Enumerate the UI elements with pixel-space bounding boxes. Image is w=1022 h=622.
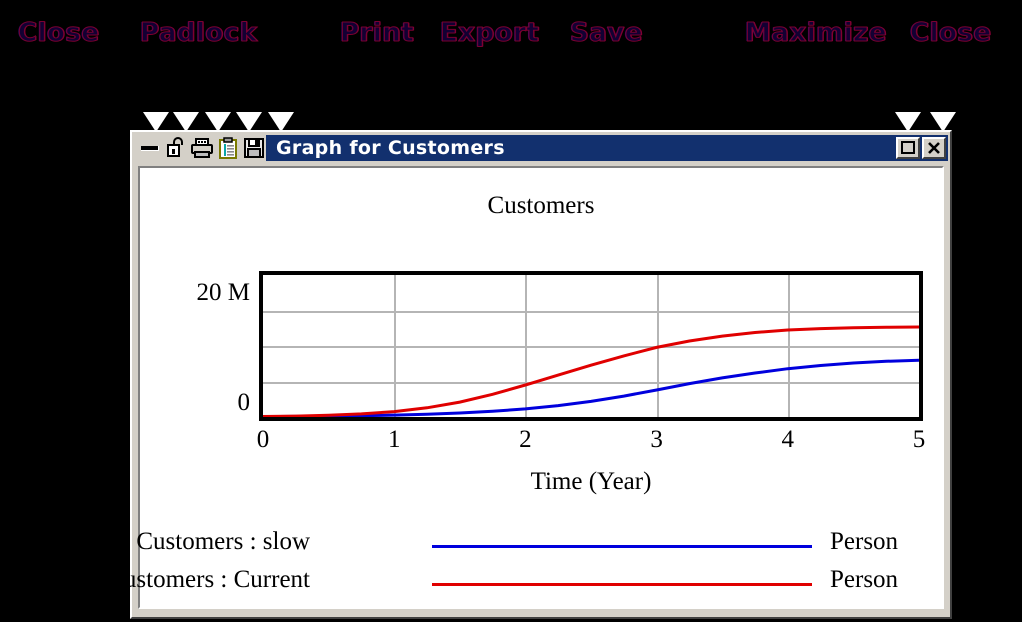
x-axis-tick-label: 5 xyxy=(899,426,939,454)
legend-label: Customers : Current xyxy=(107,566,310,594)
x-axis-tick-label: 4 xyxy=(768,426,808,454)
window-title: Graph for Customers xyxy=(266,137,505,159)
export-icon[interactable] xyxy=(216,136,240,160)
x-axis-tick-label: 0 xyxy=(243,426,283,454)
annotation-label: Close xyxy=(18,20,99,46)
legend-line-swatch xyxy=(432,583,812,586)
graph-panel: Customers 20 M 0 012345 Time (Year) Cust… xyxy=(140,168,942,607)
callout-arrow-head xyxy=(173,112,199,132)
window-toolbar xyxy=(132,132,266,164)
annotation-label: Save xyxy=(570,20,643,46)
callout-arrow-head xyxy=(205,112,231,132)
graph-window: Graph for Customers Cu xyxy=(130,130,952,619)
annotation-label: Print xyxy=(340,20,414,46)
x-axis-tick-label: 3 xyxy=(637,426,677,454)
x-axis-tick-label: 1 xyxy=(374,426,414,454)
y-axis-tick-top: 20 M xyxy=(150,279,250,307)
legend-line-swatch xyxy=(432,545,812,548)
padlock-icon[interactable] xyxy=(164,136,188,160)
callout-arrow-head xyxy=(236,112,262,132)
legend-row: Customers : slowPerson xyxy=(140,528,942,566)
plot-area xyxy=(259,271,923,421)
x-axis-tick-label: 2 xyxy=(505,426,545,454)
annotation-label: Close xyxy=(910,20,991,46)
screenshot-root: ClosePadlockPrintExportSaveMaximizeClose xyxy=(0,0,1022,622)
annotation-label: Padlock xyxy=(140,20,258,46)
window-titlebar: Graph for Customers xyxy=(132,132,950,164)
annotation-label: Export xyxy=(440,20,539,46)
titlebar-bar: Graph for Customers xyxy=(266,135,948,161)
series-line xyxy=(263,360,919,416)
maximize-button[interactable] xyxy=(896,137,920,159)
callout-arrow-head xyxy=(895,112,921,132)
close-button[interactable] xyxy=(922,137,946,159)
window-client-area: Customers 20 M 0 012345 Time (Year) Cust… xyxy=(138,166,944,609)
legend-row: Customers : CurrentPerson xyxy=(140,566,942,604)
callout-arrow-head xyxy=(930,112,956,132)
callout-arrow-head xyxy=(143,112,169,132)
legend-unit: Person xyxy=(830,528,898,556)
y-axis-tick-bottom: 0 xyxy=(150,389,250,417)
legend-label: Customers : slow xyxy=(136,528,310,556)
chart-legend: Customers : slowPersonCustomers : Curren… xyxy=(140,528,942,604)
print-icon[interactable] xyxy=(190,136,214,160)
legend-unit: Person xyxy=(830,566,898,594)
window-controls xyxy=(896,137,948,159)
plot-lines xyxy=(263,275,919,417)
callout-arrow-head xyxy=(268,112,294,132)
annotation-label: Maximize xyxy=(745,20,887,46)
save-icon[interactable] xyxy=(242,136,266,160)
close-icon[interactable] xyxy=(138,136,162,160)
x-axis-label: Time (Year) xyxy=(259,468,923,496)
series-line xyxy=(263,327,919,417)
chart-title: Customers xyxy=(140,192,942,220)
